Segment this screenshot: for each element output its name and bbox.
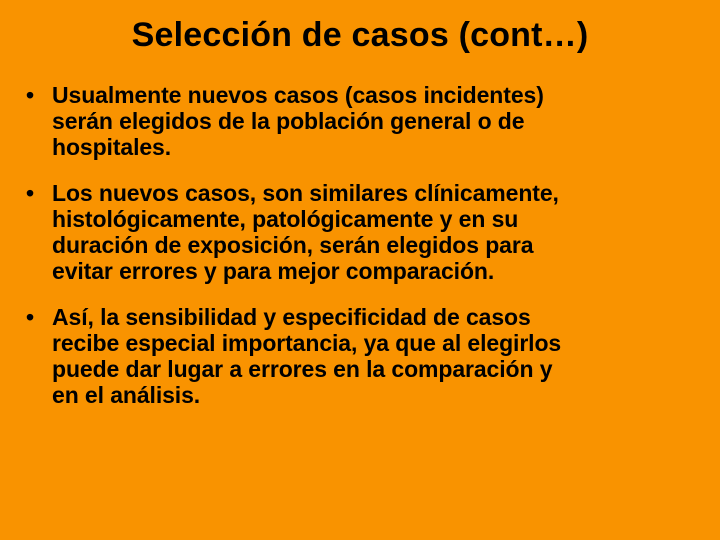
bullet-text: Los nuevos casos, son similares clínicam… <box>52 180 698 284</box>
bullet-point-icon: • <box>22 304 52 330</box>
bullet-point-icon: • <box>22 82 52 108</box>
bullet-line: serán elegidos de la población general o… <box>52 108 698 134</box>
bullet-line: recibe especial importancia, ya que al e… <box>52 330 698 356</box>
bullet-text: Así, la sensibilidad y especificidad de … <box>52 304 698 408</box>
bullet-line: Los nuevos casos, son similares clínicam… <box>52 180 698 206</box>
bullet-line: Usualmente nuevos casos (casos incidente… <box>52 82 698 108</box>
bullet-line: hospitales. <box>52 134 698 160</box>
bullet-line: puede dar lugar a errores en la comparac… <box>52 356 698 382</box>
bullet-text: Usualmente nuevos casos (casos incidente… <box>52 82 698 160</box>
bullet-line: Así, la sensibilidad y especificidad de … <box>52 304 698 330</box>
presentation-slide: Selección de casos (cont…) • Usualmente … <box>0 0 720 540</box>
bullet-line: evitar errores y para mejor comparación. <box>52 258 698 284</box>
page-title: Selección de casos (cont…) <box>0 14 720 56</box>
bullet-line: duración de exposición, serán elegidos p… <box>52 232 698 258</box>
list-item: • Usualmente nuevos casos (casos inciden… <box>22 82 698 160</box>
bullet-list: • Usualmente nuevos casos (casos inciden… <box>22 82 698 408</box>
bullet-line: en el análisis. <box>52 382 698 408</box>
list-item: • Así, la sensibilidad y especificidad d… <box>22 304 698 408</box>
bullet-point-icon: • <box>22 180 52 206</box>
bullet-line: histológicamente, patológicamente y en s… <box>52 206 698 232</box>
list-item: • Los nuevos casos, son similares clínic… <box>22 180 698 284</box>
